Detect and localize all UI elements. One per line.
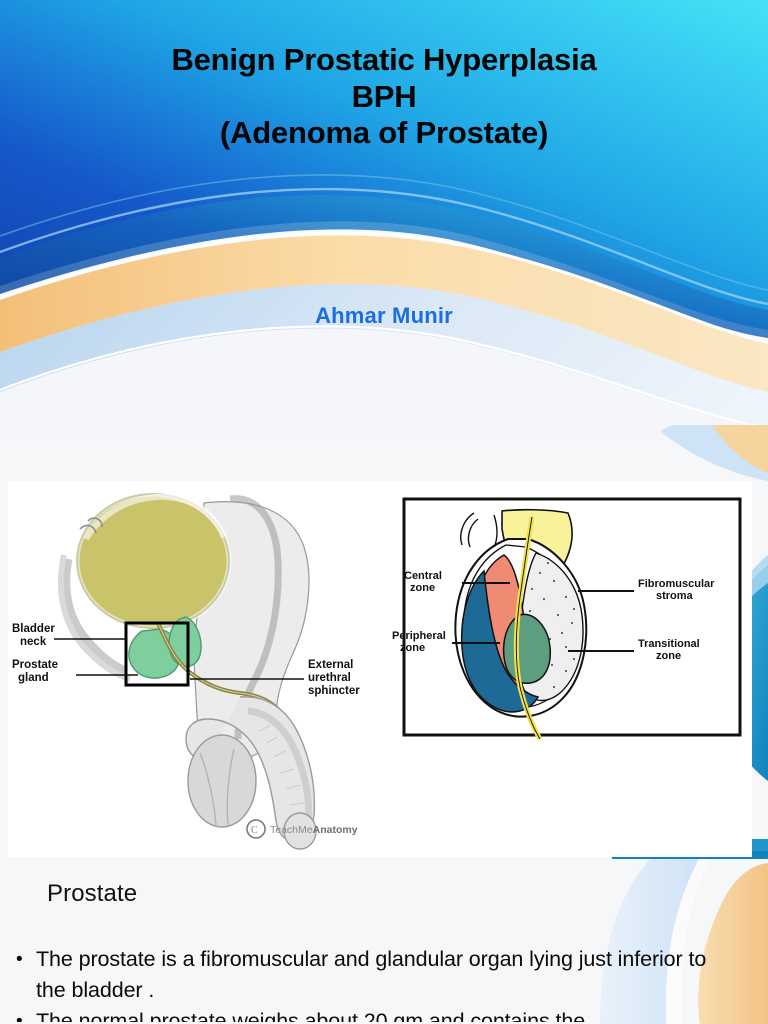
label-external-sphincter-line2: urethral xyxy=(308,672,351,684)
svg-text:C: C xyxy=(251,825,258,836)
label-prostate-gland-line2: gland xyxy=(18,672,49,684)
label-fibromuscular-stroma-line1: Fibromuscular xyxy=(638,578,715,590)
svg-text:TeachMeAnatomy: TeachMeAnatomy xyxy=(270,824,358,836)
bullet-text-2: The normal prostate weighs about 20 gm a… xyxy=(36,1009,585,1022)
bullet-marker-1: • xyxy=(16,944,23,975)
label-bladder-neck-line2: neck xyxy=(20,636,47,648)
label-transitional-zone-line2: zone xyxy=(656,650,681,662)
title-line-1: Benign Prostatic Hyperplasia xyxy=(0,42,768,79)
testis-region xyxy=(188,735,256,827)
label-peripheral-zone-line1: Peripheral xyxy=(392,630,446,642)
slide-body-content: Prostate • The prostate is a fibromuscul… xyxy=(0,868,768,1024)
bullet-item-1: • The prostate is a fibromuscular and gl… xyxy=(12,944,734,1006)
author-name: Ahmar Munir xyxy=(0,303,768,329)
label-external-sphincter-line3: sphincter xyxy=(308,685,360,697)
label-central-zone-line2: zone xyxy=(410,582,435,594)
label-external-sphincter-line1: External xyxy=(308,659,353,671)
title-line-3: (Adenoma of Prostate) xyxy=(0,115,768,152)
label-bladder-neck-line1: Bladder xyxy=(12,623,55,635)
content-subheading: Prostate xyxy=(47,880,137,908)
label-central-zone-line1: Central xyxy=(404,570,442,582)
bullet-text-1: The prostate is a fibromuscular and glan… xyxy=(36,947,706,1002)
slide-root: Benign Prostatic Hyperplasia BPH (Adenom… xyxy=(0,0,768,1024)
anatomy-figure-panel: Bladder neck Prostate gland External ure… xyxy=(8,481,752,857)
label-peripheral-zone-line2: zone xyxy=(400,642,425,654)
label-prostate-gland-line1: Prostate xyxy=(12,659,58,671)
bullet-list: • The prostate is a fibromuscular and gl… xyxy=(12,944,734,1022)
page-title: Benign Prostatic Hyperplasia BPH (Adenom… xyxy=(0,42,768,152)
anatomy-figures-svg: Bladder neck Prostate gland External ure… xyxy=(8,481,752,857)
label-transitional-zone-line1: Transitional xyxy=(638,638,700,650)
figure-right-group: Central zone Peripheral zone Fibromuscul… xyxy=(392,499,740,739)
title-line-2: BPH xyxy=(0,79,768,116)
bullet-item-2: • The normal prostate weighs about 20 gm… xyxy=(12,1006,734,1022)
bullet-marker-2: • xyxy=(16,1006,23,1022)
label-fibromuscular-stroma-line2: stroma xyxy=(656,590,694,602)
slide-header-banner: Benign Prostatic Hyperplasia BPH (Adenom… xyxy=(0,0,768,440)
